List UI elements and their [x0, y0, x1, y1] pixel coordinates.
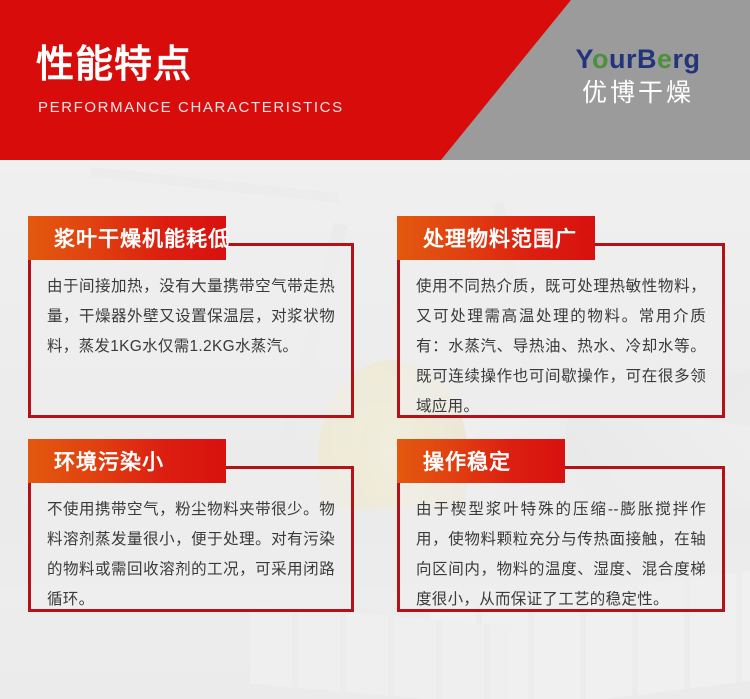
- feature-card-description: 由于间接加热，没有大量携带空气带走热量，干燥器外壁又设置保温层，对浆状物料，蒸发…: [31, 272, 351, 362]
- logo-company-name-cn: 优博干燥: [548, 78, 728, 108]
- page-title: 性能特点: [36, 42, 192, 88]
- logo-letter-y: Y: [575, 44, 592, 74]
- logo-letter-o-green: o: [592, 44, 609, 74]
- feature-card-description: 不使用携带空气，粉尘物料夹带很少。物料溶剂蒸发量很小，便于处理。对有污染的物料或…: [31, 495, 351, 615]
- page-header: 性能特点 PERFORMANCE CHARACTERISTICS YourBer…: [0, 0, 750, 160]
- feature-card-title-banner: 处理物料范围广: [397, 216, 595, 260]
- feature-card-title-banner: 浆叶干燥机能耗低: [28, 216, 226, 260]
- logo-letters-rg: rg: [673, 44, 701, 74]
- page-subtitle: PERFORMANCE CHARACTERISTICS: [38, 99, 344, 116]
- feature-card-energy-consumption: 浆叶干燥机能耗低 由于间接加热，没有大量携带空气带走热量，干燥器外壁又设置保温层…: [28, 243, 354, 418]
- feature-card-title-banner: 操作稳定: [397, 439, 565, 483]
- feature-card-title-banner: 环境污染小: [28, 439, 226, 483]
- page-root: 性能特点 PERFORMANCE CHARACTERISTICS YourBer…: [0, 0, 750, 699]
- feature-card-low-pollution: 环境污染小 不使用携带空气，粉尘物料夹带很少。物料溶剂蒸发量很小，便于处理。对有…: [28, 466, 354, 612]
- feature-card-material-range: 处理物料范围广 使用不同热介质，既可处理热敏性物料，又可处理需高温处理的物料。常…: [397, 243, 725, 418]
- feature-card-description: 由于楔型浆叶特殊的压缩--膨胀搅拌作用，使物料颗粒充分与传热面接触，在轴向区间内…: [400, 495, 722, 615]
- feature-card-stable-operation: 操作稳定 由于楔型浆叶特殊的压缩--膨胀搅拌作用，使物料颗粒充分与传热面接触，在…: [397, 466, 725, 612]
- logo-wordmark: YourBerg: [548, 44, 728, 74]
- logo-letters-urb: urB: [609, 44, 657, 74]
- feature-card-description: 使用不同热介质，既可处理热敏性物料，又可处理需高温处理的物料。常用介质有：水蒸汽…: [400, 272, 722, 422]
- brand-logo: YourBerg 优博干燥: [548, 44, 728, 108]
- logo-letter-e-green: e: [657, 44, 673, 74]
